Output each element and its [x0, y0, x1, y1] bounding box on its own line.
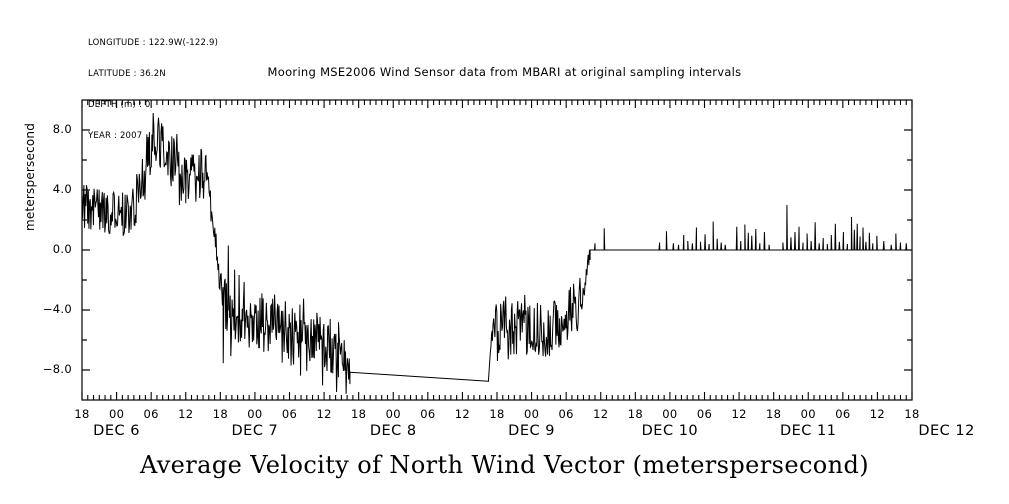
- x-axis-hour-label: 00: [376, 407, 410, 421]
- x-axis-hour-label: 12: [722, 407, 756, 421]
- x-axis-day-label: DEC 6: [62, 423, 172, 439]
- x-axis-hour-label: 06: [826, 407, 860, 421]
- x-axis-hour-label: 12: [445, 407, 479, 421]
- x-axis-hour-label: 06: [549, 407, 583, 421]
- x-axis-day-label: DEC 8: [338, 423, 448, 439]
- y-axis-title: meterspersecond: [23, 77, 37, 277]
- x-axis-title: Average Velocity of North Wind Vector (m…: [0, 451, 1009, 479]
- x-axis-hour-label: 00: [653, 407, 687, 421]
- x-axis-hour-label: 12: [860, 407, 894, 421]
- x-axis-day-label: DEC 12: [892, 423, 1002, 439]
- x-axis-day-label: DEC 9: [477, 423, 587, 439]
- y-axis-tick-label: −4.0: [24, 302, 72, 316]
- y-axis-tick-label: −8.0: [24, 362, 72, 376]
- x-axis-hour-label: 18: [203, 407, 237, 421]
- x-axis-hour-label: 12: [169, 407, 203, 421]
- x-axis-day-label: DEC 7: [200, 423, 310, 439]
- data-series-north-wind: [82, 113, 912, 394]
- x-axis-hour-label: 06: [688, 407, 722, 421]
- x-axis-hour-label: 06: [411, 407, 445, 421]
- x-axis-hour-label: 12: [584, 407, 618, 421]
- x-axis-day-label: DEC 11: [753, 423, 863, 439]
- series-line: [82, 113, 912, 394]
- chart-page: LONGITUDE : 122.9W(-122.9) LATITUDE : 36…: [0, 0, 1009, 504]
- x-axis-hour-label: 00: [238, 407, 272, 421]
- x-axis-hour-label: 18: [480, 407, 514, 421]
- x-axis-hour-label: 18: [618, 407, 652, 421]
- x-axis-hour-label: 18: [757, 407, 791, 421]
- x-axis-hour-label: 00: [515, 407, 549, 421]
- x-axis-hour-label: 12: [307, 407, 341, 421]
- x-axis-hour-label: 18: [65, 407, 99, 421]
- x-axis-hour-label: 18: [342, 407, 376, 421]
- x-axis-hour-label: 00: [791, 407, 825, 421]
- x-axis-hour-label: 06: [134, 407, 168, 421]
- x-axis-hour-label: 18: [895, 407, 929, 421]
- x-axis-hour-label: 06: [273, 407, 307, 421]
- x-axis-hour-label: 00: [100, 407, 134, 421]
- x-axis-day-label: DEC 10: [615, 423, 725, 439]
